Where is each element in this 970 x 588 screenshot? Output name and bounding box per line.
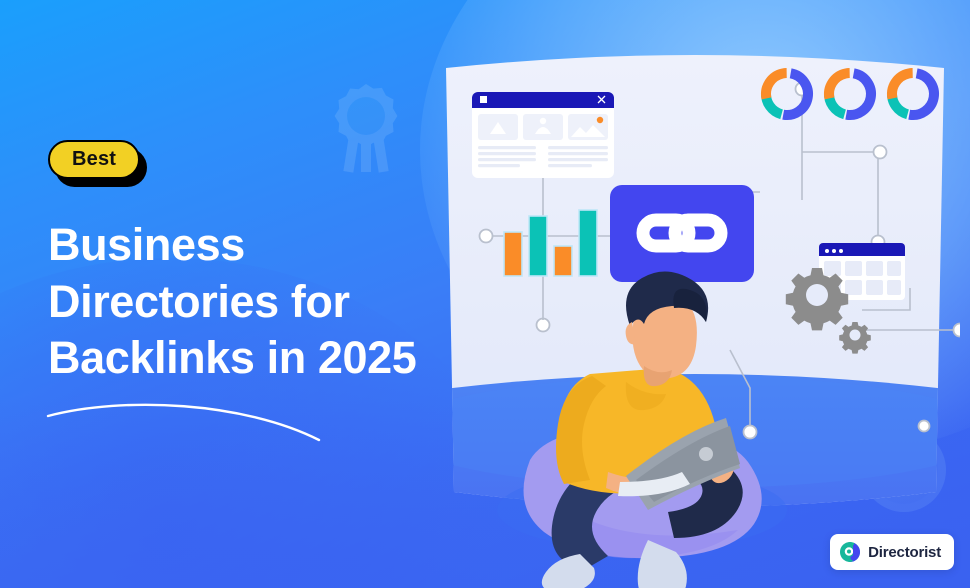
directorist-wordmark: Directorist: [868, 545, 941, 560]
directorist-mark-icon: [839, 541, 861, 563]
gear-small: [839, 322, 871, 354]
article-window-mockup: [472, 92, 614, 178]
article-thumbnails: [478, 114, 608, 140]
best-badge: Best: [48, 140, 140, 179]
grid-window-dots: [825, 249, 843, 253]
best-badge-label: Best: [48, 140, 140, 179]
backlink-network-illustration: [430, 40, 960, 588]
link-card: [610, 185, 754, 282]
headline-block: Best Business Directories for Backlinks …: [48, 140, 468, 387]
promo-banner: $ Best Business Directories for Backlink…: [0, 0, 970, 588]
headline-underline-swoosh: [44, 392, 334, 444]
page-title: Business Directories for Backlinks in 20…: [48, 217, 468, 387]
directorist-logo[interactable]: Directorist: [830, 534, 954, 570]
gear-large: [786, 268, 848, 330]
